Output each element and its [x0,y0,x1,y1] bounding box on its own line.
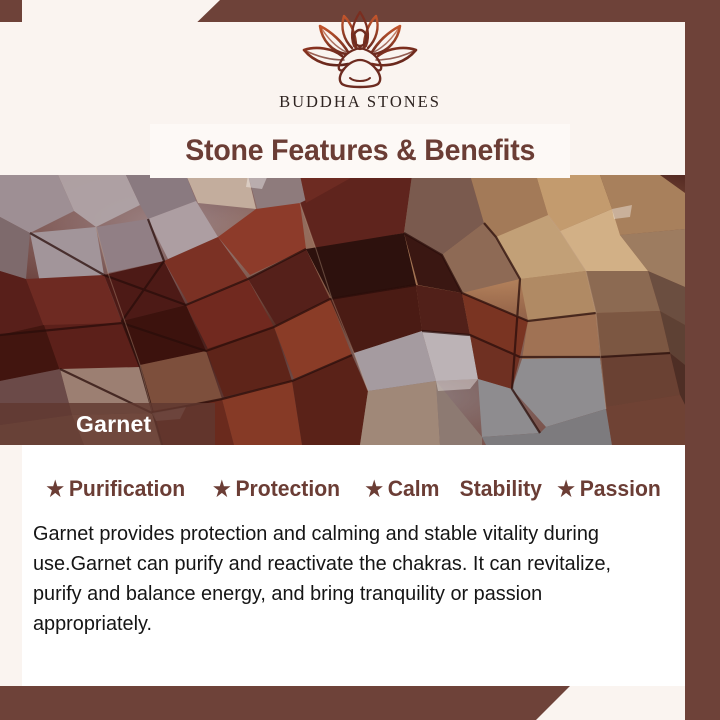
benefit-label: Protection [235,478,340,501]
stone-name-band: Garnet [0,403,215,445]
stone-description: Garnet provides protection and calming a… [33,519,662,639]
infographic-page: Garnet [0,0,720,720]
star-icon: ★ [47,479,65,500]
benefit-label: Purification [69,478,185,501]
stone-name-label: Garnet [76,411,151,438]
star-icon: ★ [558,479,576,500]
benefit-label: Calm [388,478,440,501]
benefit-label: Passion [580,478,661,501]
benefit-label: Stability [460,478,542,501]
benefit-item: ★ Passion [558,478,662,501]
benefit-item: Stability [460,478,542,501]
benefits-list: ★ Purification ★ Protection ★ Calm Stabi… [22,478,685,501]
benefit-item: ★ Protection [213,478,340,501]
lotus-meditation-icon [282,8,438,90]
page-title: Stone Features & Benefits [185,134,535,168]
benefit-item: ★ Calm [365,478,439,501]
star-icon: ★ [365,479,383,500]
frame-bottom-bar [0,686,570,720]
benefit-item: ★ Purification [47,478,186,501]
section-title-banner: Stone Features & Benefits [150,124,570,178]
brand-name-label: BUDDHA STONES [279,92,441,112]
star-icon: ★ [213,479,231,500]
brand-logo: BUDDHA STONES [0,8,720,112]
